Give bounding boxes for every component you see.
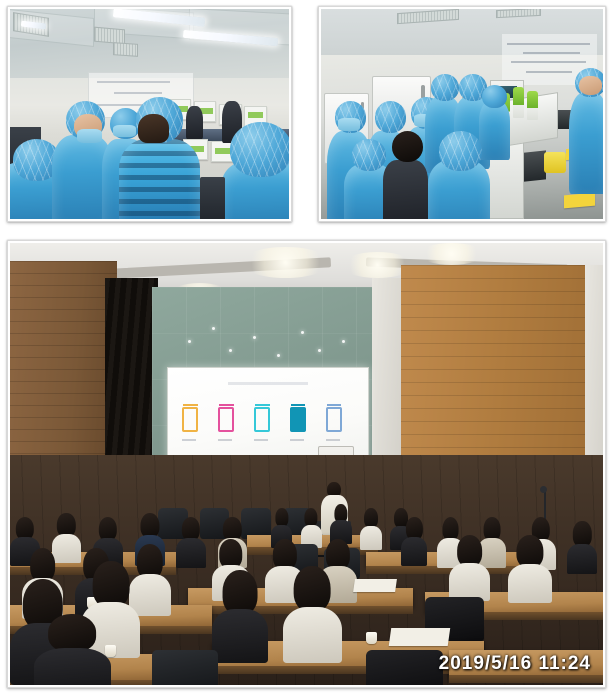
attendee-head xyxy=(92,561,129,608)
slide-text-line xyxy=(511,61,586,63)
poster-text-line xyxy=(114,92,162,94)
photo-lab-demo xyxy=(318,6,606,222)
attendee-head xyxy=(48,614,96,652)
attendee-head xyxy=(30,548,56,582)
attendee-head xyxy=(294,566,331,613)
slide-icon-5 xyxy=(326,407,342,432)
attendee-body xyxy=(283,607,342,663)
slide-icon-1 xyxy=(182,407,198,432)
trainee-head xyxy=(230,122,289,177)
slide-icon-3 xyxy=(254,407,270,432)
poster-text-line xyxy=(97,81,170,83)
slide-text-line xyxy=(523,52,581,54)
attendee-body xyxy=(449,563,491,601)
trainee-head xyxy=(431,74,459,101)
attendee-body xyxy=(401,537,427,565)
trainee-head xyxy=(439,131,481,171)
ppe-cap-icon xyxy=(431,74,459,101)
slide-caption xyxy=(182,439,196,441)
ceiling-vent xyxy=(113,42,138,56)
screen-reflection xyxy=(253,336,256,339)
ppe-cap-icon xyxy=(230,122,289,177)
slide-icon-2 xyxy=(218,407,234,432)
attendee xyxy=(176,517,206,568)
photo-lab-briefing xyxy=(7,6,292,222)
attendee xyxy=(508,535,552,604)
attendee xyxy=(567,521,597,574)
screen-reflection xyxy=(277,354,280,357)
attendee-foreground xyxy=(34,614,111,685)
trainee-head xyxy=(375,101,406,133)
photo-timestamp: 2019/5/16 11:24 xyxy=(439,653,591,675)
slide-caption xyxy=(218,439,232,441)
pipette-stand xyxy=(527,91,538,120)
desk-front-panel xyxy=(449,675,603,683)
attendee xyxy=(360,508,383,550)
face-mask xyxy=(338,118,361,131)
paper-cup xyxy=(366,632,377,644)
instructor-gown xyxy=(569,93,603,194)
trainee-head xyxy=(482,85,507,108)
attendee xyxy=(283,566,342,663)
slide-caption xyxy=(290,439,304,441)
attendee xyxy=(212,570,268,663)
attendee-head xyxy=(222,570,257,615)
photo-lecture-hall-canvas: 2019/5/16 11:24 xyxy=(10,243,603,685)
trainee-head xyxy=(392,131,423,163)
screen-reflection xyxy=(212,327,215,330)
slide-icon-4 xyxy=(290,407,306,432)
attendee-body xyxy=(34,648,111,685)
trainee-head xyxy=(352,139,386,171)
face-mask xyxy=(77,129,102,144)
ppe-cap-icon xyxy=(439,131,481,171)
trainee-face xyxy=(138,114,169,143)
trainee-gown-striped xyxy=(119,139,200,219)
attendee-head xyxy=(516,535,543,568)
photo-collage: 2019/5/16 11:24 xyxy=(0,0,614,695)
ppe-cap-icon xyxy=(352,139,386,171)
photo-lecture-hall: 2019/5/16 11:24 xyxy=(7,240,606,688)
paper-on-desk xyxy=(353,579,396,592)
attendee xyxy=(401,517,427,566)
photo-lab-briefing-canvas xyxy=(10,9,289,219)
face-mask xyxy=(113,125,135,138)
attendee-body xyxy=(176,538,206,567)
sticky-note xyxy=(564,192,595,207)
trainee-gown xyxy=(479,101,510,160)
slide-text-line xyxy=(526,71,572,73)
bag xyxy=(366,650,443,685)
pipette-stand xyxy=(513,87,524,119)
slide-caption xyxy=(254,439,268,441)
attendee-body xyxy=(360,526,383,550)
attendee-head xyxy=(457,535,483,567)
slide-text-line xyxy=(507,43,589,45)
attendee-body xyxy=(212,609,268,663)
slide-caption xyxy=(326,439,340,441)
attendee-body xyxy=(508,564,552,604)
slide-title-line xyxy=(228,382,308,385)
attendee-body xyxy=(567,544,597,575)
attendee xyxy=(330,504,351,544)
instructor-face xyxy=(579,76,602,95)
waste-bin xyxy=(544,152,567,173)
ppe-cap-icon xyxy=(375,101,406,133)
ceiling-vent xyxy=(94,27,125,44)
paper-on-desk xyxy=(388,628,450,646)
chair xyxy=(152,650,217,685)
attendee xyxy=(449,535,491,601)
staff-member xyxy=(186,106,203,140)
trainee-dark-clothing xyxy=(383,160,428,219)
equipment-case xyxy=(200,177,225,219)
photo-lab-demo-canvas xyxy=(321,9,603,219)
